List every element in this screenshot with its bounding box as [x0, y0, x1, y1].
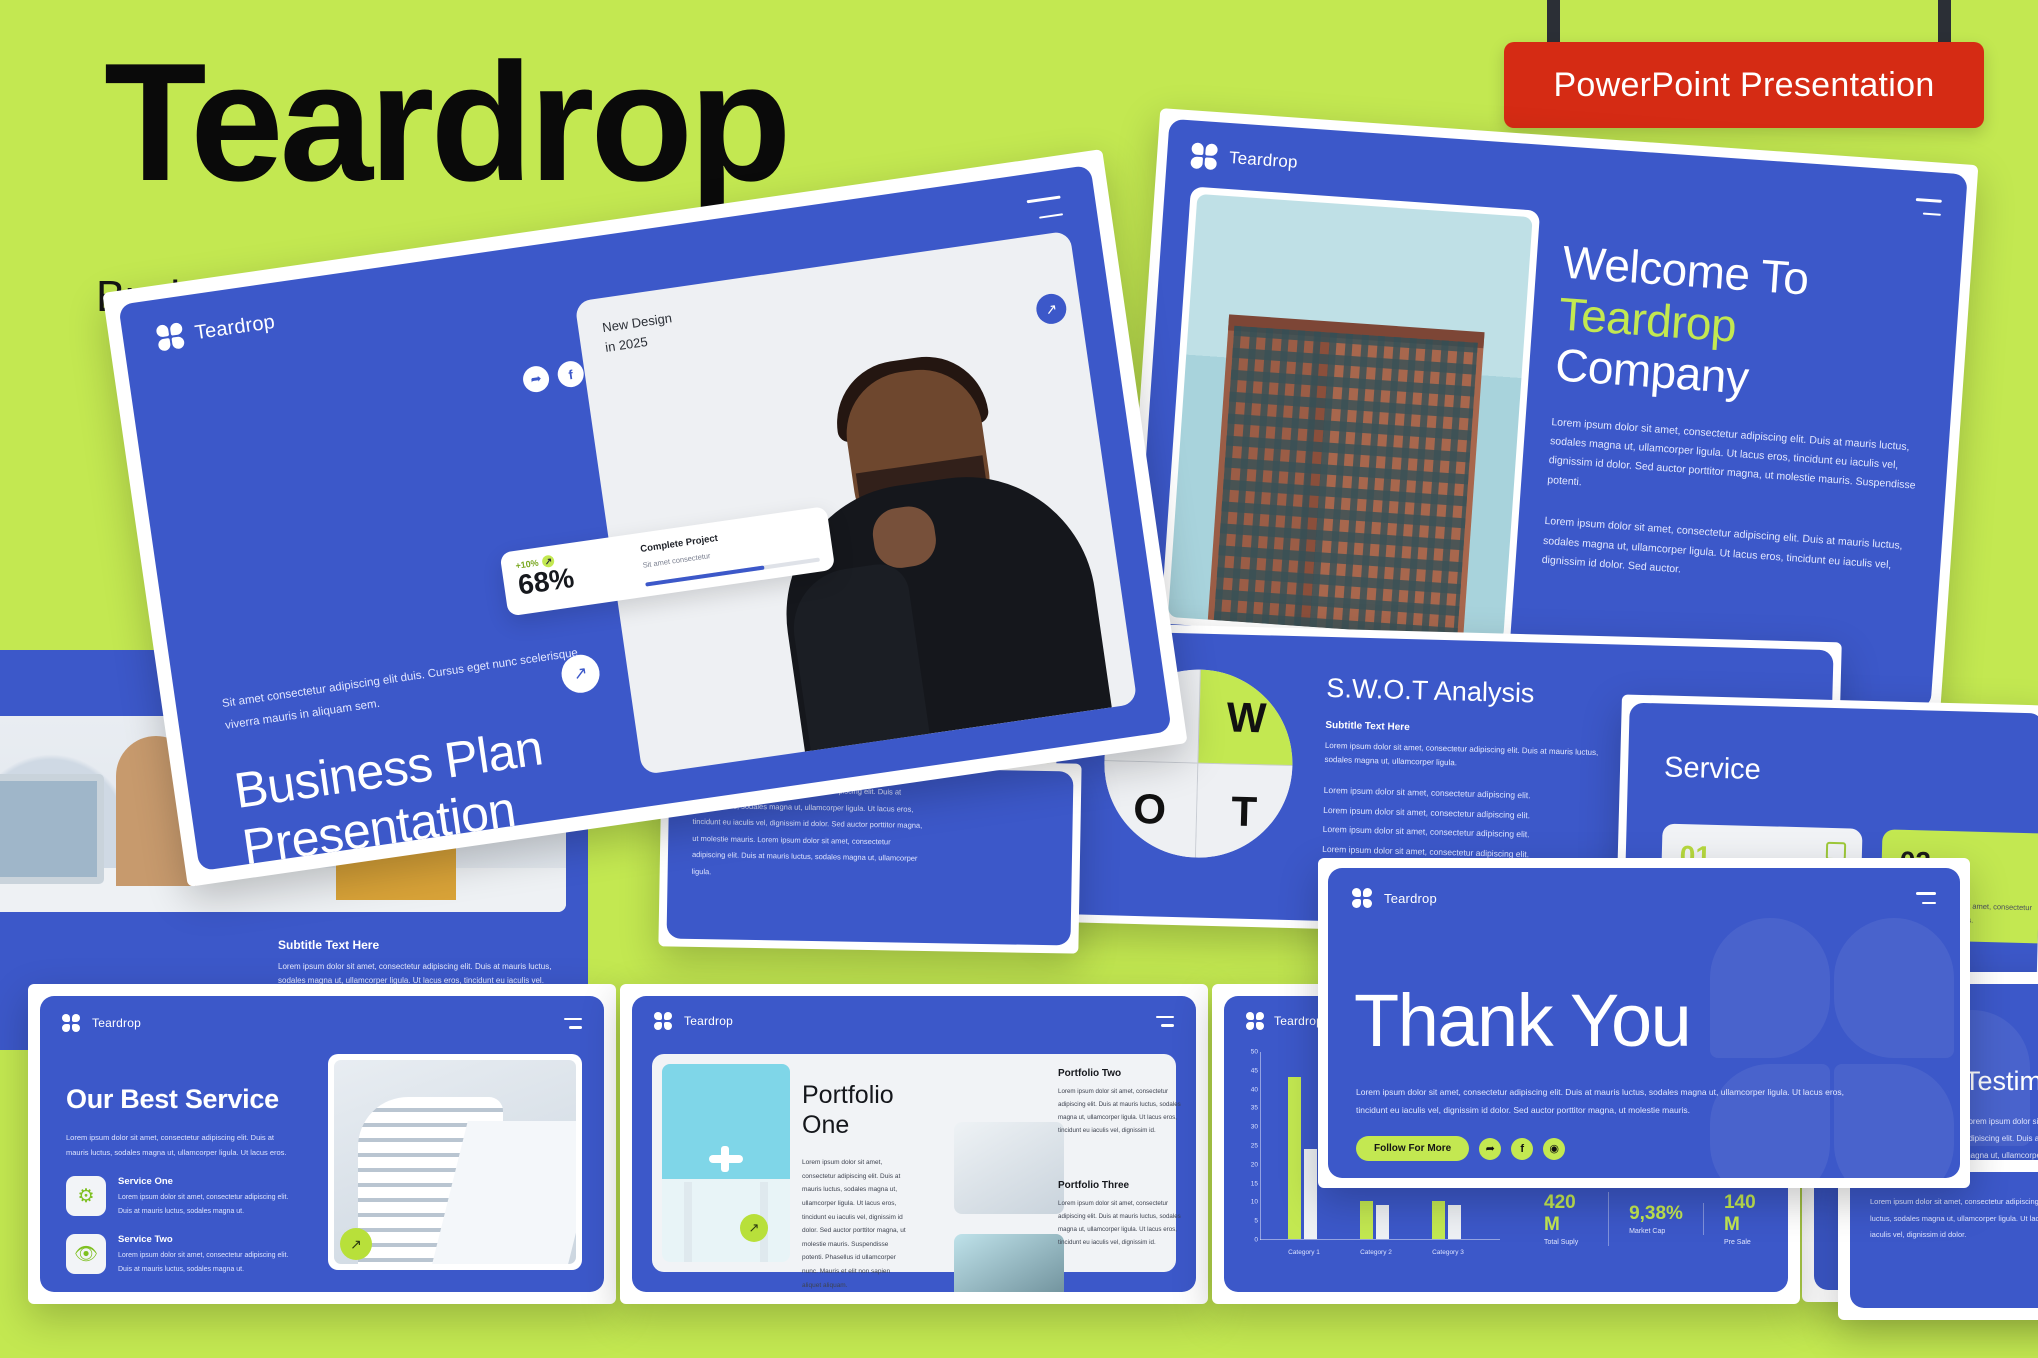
- swot-quadrant-t: T: [1196, 764, 1292, 860]
- twitter-icon[interactable]: ➦: [1479, 1138, 1501, 1160]
- y-axis-tick: 10: [1236, 1199, 1258, 1206]
- slide-frame-portfolio: Teardrop ↗ PortfolioOne Lorem ipsum dolo…: [620, 984, 1208, 1304]
- brand-name: Teardrop: [193, 310, 276, 344]
- brand-logo: Teardrop: [156, 309, 277, 352]
- stat-value: 420 M: [1544, 1192, 1588, 1236]
- facebook-icon[interactable]: f: [1511, 1138, 1533, 1160]
- portfolio-three-block: Portfolio Three Lorem ipsum dolor sit am…: [1058, 1180, 1186, 1249]
- y-axis-tick: 50: [1236, 1049, 1258, 1056]
- stat-label: Total Suply: [1544, 1239, 1588, 1246]
- stat-total-supply: 420 M Total Suply: [1524, 1192, 1609, 1246]
- stat-value: 9,38%: [1629, 1203, 1683, 1225]
- slide-header: Teardrop: [654, 1012, 1174, 1030]
- testimonial-body-2: Lorem ipsum dolor sit amet, consectetur …: [1870, 1194, 2038, 1244]
- teardrop-logo-icon: [1246, 1012, 1264, 1030]
- poster-canvas: Teardrop Business Presentation PowerPoin…: [0, 0, 2038, 1358]
- swot-body: Lorem ipsum dolor sit amet, consectetur …: [1324, 739, 1625, 775]
- bar-group: [1432, 1201, 1461, 1239]
- service-item-title: Service One: [118, 1176, 296, 1187]
- slide-thank-you[interactable]: Teardrop Thank You Lorem ipsum dolor sit…: [1328, 868, 1960, 1178]
- y-axis-tick: 0: [1236, 1237, 1258, 1244]
- y-axis-tick: 30: [1236, 1124, 1258, 1131]
- stat-pre-sale: 140 M Pre Sale: [1704, 1192, 1788, 1246]
- stat-value: 140 M: [1724, 1192, 1768, 1236]
- brand-name: Teardrop: [1228, 148, 1298, 173]
- y-axis-tick: 25: [1236, 1143, 1258, 1150]
- bar: [1288, 1077, 1301, 1239]
- office-subtitle: Subtitle Text Here: [278, 938, 578, 952]
- menu-icon[interactable]: [1915, 198, 1942, 216]
- list-item[interactable]: ⚙ Service One Lorem ipsum dolor sit amet…: [66, 1176, 296, 1218]
- slide-business-plan[interactable]: Teardrop ➦ f ◉ New Design in 2025 ↗: [118, 165, 1172, 871]
- best-service-title: Our Best Service: [66, 1084, 279, 1115]
- portfolio-two-desc: Lorem ipsum dolor sit amet, consectetur …: [1058, 1085, 1186, 1137]
- y-axis-tick: 45: [1236, 1067, 1258, 1074]
- testimonial-body: Lorem ipsum dolor sit amet, consectetur …: [1964, 1114, 2038, 1164]
- swot-subtitle: Subtitle Text Here: [1325, 720, 1625, 739]
- gear-icon: ⚙: [66, 1176, 106, 1216]
- teardrop-logo-icon: [654, 1012, 672, 1030]
- teardrop-logo-icon: [62, 1014, 80, 1032]
- portfolio-three-title: Portfolio Three: [1058, 1180, 1186, 1191]
- powerpoint-badge: PowerPoint Presentation: [1504, 42, 1984, 128]
- menu-icon[interactable]: [564, 1018, 582, 1029]
- list-item[interactable]: 👁 Service Two Lorem ipsum dolor sit amet…: [66, 1234, 296, 1276]
- brand-logo: Teardrop: [1352, 888, 1437, 908]
- service-item-desc: Lorem ipsum dolor sit amet, consectetur …: [118, 1191, 296, 1218]
- teardrop-logo-icon: [1190, 142, 1218, 170]
- x-axis-tick: Category 1: [1274, 1249, 1334, 1256]
- y-axis-tick: 40: [1236, 1086, 1258, 1093]
- portfolio-two-title: Portfolio Two: [1058, 1068, 1186, 1079]
- portfolio-one-desc: Lorem ipsum dolor sit amet, consectetur …: [802, 1156, 910, 1292]
- y-axis-tick: 35: [1236, 1105, 1258, 1112]
- office-caption: Subtitle Text Here Lorem ipsum dolor sit…: [278, 938, 578, 988]
- bar-group: [1288, 1077, 1317, 1239]
- bar: [1448, 1205, 1461, 1239]
- welcome-title: Welcome To Teardrop Company: [1554, 237, 1932, 417]
- bar-group: [1360, 1201, 1389, 1239]
- stat-label: Market Cap: [1629, 1228, 1683, 1235]
- brand-name: Teardrop: [1274, 1014, 1323, 1028]
- stat-market-cap: 9,38% Market Cap: [1609, 1203, 1704, 1235]
- thank-you-actions: Follow For More ➦ f ◉: [1356, 1136, 1565, 1161]
- brand-logo: Teardrop: [62, 1014, 141, 1032]
- eye-icon: 👁: [66, 1234, 106, 1274]
- new-design-caption: New Design in 2025: [601, 308, 676, 357]
- y-axis-tick: 5: [1236, 1218, 1258, 1225]
- slide-frame-best-service: Teardrop Our Best Service Lorem ipsum do…: [28, 984, 616, 1304]
- menu-icon[interactable]: [1027, 195, 1064, 220]
- stat-label: Pre Sale: [1724, 1239, 1768, 1246]
- arrow-circle-icon[interactable]: ↗: [740, 1214, 768, 1242]
- facebook-icon[interactable]: f: [556, 359, 585, 388]
- swot-quadrant-w: W: [1198, 670, 1294, 766]
- swot-title: S.W.O.T Analysis: [1326, 673, 1627, 712]
- slide-testimonial-2[interactable]: Lorem ipsum dolor sit amet, consectetur …: [1850, 1172, 2038, 1308]
- portfolio-three-desc: Lorem ipsum dolor sit amet, consectetur …: [1058, 1197, 1186, 1249]
- portfolio-two-photo: [954, 1122, 1064, 1214]
- chart-stats: 420 M Total Suply 9,38% Market Cap 140 M…: [1524, 1192, 1788, 1246]
- twitter-icon[interactable]: ➦: [521, 364, 550, 393]
- teardrop-logo-icon: [156, 322, 185, 351]
- slide-header: Teardrop: [62, 1014, 582, 1032]
- best-service-lead: Lorem ipsum dolor sit amet, consectetur …: [66, 1130, 296, 1160]
- x-axis-tick: Category 3: [1418, 1249, 1478, 1256]
- welcome-paragraph-1: Lorem ipsum dolor sit amet, consectetur …: [1547, 413, 1920, 516]
- swot-quadrant-o: O: [1102, 761, 1198, 857]
- brand-logo: Teardrop: [654, 1012, 733, 1030]
- swot-text-block: S.W.O.T Analysis Subtitle Text Here Lore…: [1322, 673, 1627, 867]
- thank-you-body: Lorem ipsum dolor sit amet, consectetur …: [1356, 1084, 1876, 1120]
- portfolio-one-photo: [662, 1064, 790, 1262]
- x-axis-tick: Category 2: [1346, 1249, 1406, 1256]
- slide-portfolio[interactable]: Teardrop ↗ PortfolioOne Lorem ipsum dolo…: [632, 996, 1196, 1292]
- bar: [1376, 1205, 1389, 1239]
- welcome-photo: [1160, 186, 1540, 647]
- teardrop-logo-icon: [1352, 888, 1372, 908]
- service-title: Service: [1664, 752, 1762, 788]
- menu-icon[interactable]: [1916, 892, 1936, 904]
- y-axis-tick: 15: [1236, 1180, 1258, 1187]
- portfolio-three-photo: [954, 1234, 1064, 1292]
- slide-best-service[interactable]: Teardrop Our Best Service Lorem ipsum do…: [40, 996, 604, 1292]
- slide-header: Teardrop: [1352, 888, 1936, 908]
- welcome-text-block: Welcome To Teardrop Company Lorem ipsum …: [1541, 237, 1931, 596]
- brand-name: Teardrop: [92, 1016, 141, 1030]
- thank-you-title: Thank You: [1354, 978, 1690, 1063]
- instagram-icon[interactable]: ◉: [1543, 1138, 1565, 1160]
- slide-header: Teardrop: [1246, 1012, 1323, 1030]
- menu-icon[interactable]: [1156, 1016, 1174, 1027]
- portfolio-two-block: Portfolio Two Lorem ipsum dolor sit amet…: [1058, 1068, 1186, 1137]
- slide-welcome[interactable]: Teardrop Welcome To Teardrop Company Lor…: [1132, 119, 1967, 709]
- swot-bullet-list: Lorem ipsum dolor sit amet, consectetur …: [1322, 781, 1624, 867]
- arrow-circle-icon[interactable]: ↗: [340, 1228, 372, 1260]
- y-axis-tick: 20: [1236, 1161, 1258, 1168]
- welcome-paragraph-2: Lorem ipsum dolor sit amet, consectetur …: [1541, 512, 1912, 596]
- testimonial-title: Testimonial: [1964, 1066, 2038, 1097]
- service-item-desc: Lorem ipsum dolor sit amet, consectetur …: [118, 1249, 296, 1276]
- bar: [1360, 1201, 1373, 1239]
- follow-for-more-button[interactable]: Follow For More: [1356, 1136, 1469, 1161]
- brand-name: Teardrop: [684, 1014, 733, 1028]
- bar: [1432, 1201, 1445, 1239]
- slide-frame-thanks: Teardrop Thank You Lorem ipsum dolor sit…: [1318, 858, 1970, 1188]
- brand-name: Teardrop: [1384, 891, 1437, 906]
- portfolio-one-title: PortfolioOne: [802, 1080, 894, 1140]
- service-item-title: Service Two: [118, 1234, 296, 1245]
- brand-logo: Teardrop: [1190, 142, 1298, 175]
- page-title: Teardrop: [104, 38, 788, 206]
- bar: [1304, 1149, 1317, 1239]
